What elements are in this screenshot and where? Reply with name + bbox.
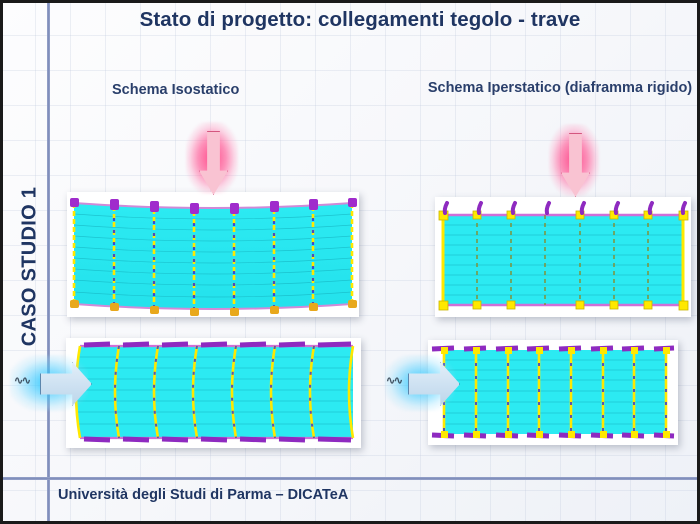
heading-hyperstatic: Schema Iperstatico (diaframma rigido)	[420, 78, 700, 98]
vertical-rule	[47, 0, 50, 524]
figure-isostatic-vertical	[67, 192, 359, 317]
fem-mesh-isostatic-horizontal	[66, 338, 361, 448]
seismic-trace-icon-right: ∿∿	[386, 374, 401, 387]
slide-border-left	[0, 0, 3, 524]
fem-mesh-isostatic-vertical	[67, 192, 359, 317]
seismic-trace-icon: ∿∿	[14, 374, 29, 387]
slide-border-top	[0, 0, 700, 3]
slide-canvas: Stato di progetto: collegamenti tegolo -…	[0, 0, 700, 524]
footer-affiliation: Università degli Studi di Parma – DICATe…	[58, 487, 348, 503]
horizontal-rule	[0, 477, 700, 480]
fem-mesh-hyperstatic-vertical	[435, 197, 691, 317]
figure-hyperstatic-horizontal	[428, 340, 678, 445]
figure-isostatic-horizontal	[66, 338, 361, 448]
figure-hyperstatic-vertical	[435, 197, 691, 317]
fem-mesh-hyperstatic-horizontal	[428, 340, 678, 445]
case-study-label: CASO STUDIO 1	[19, 167, 42, 367]
page-title: Stato di progetto: collegamenti tegolo -…	[60, 8, 660, 32]
heading-isostatic: Schema Isostatico	[112, 80, 342, 100]
